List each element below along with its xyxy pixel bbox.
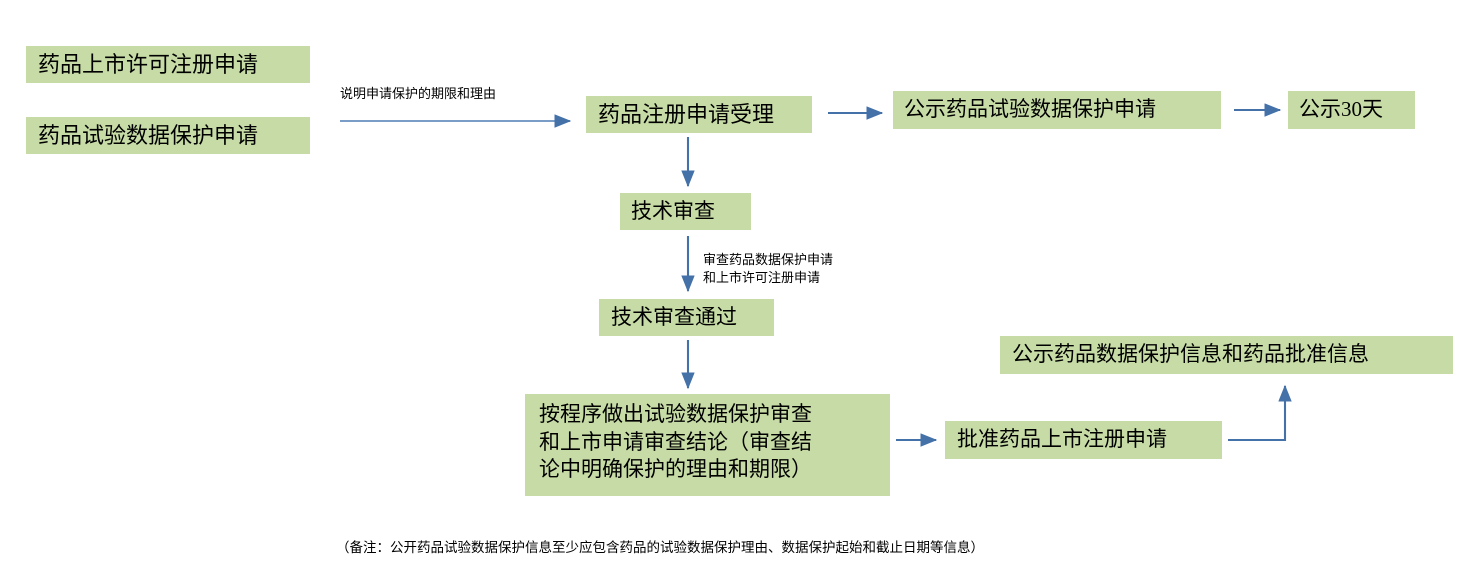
edge-label-review-both-applications: 审查药品数据保护申请 和上市许可注册申请 xyxy=(703,251,833,286)
footnote-note: （备注：公开药品试验数据保护信息至少应包含药品的试验数据保护理由、数据保护起始和… xyxy=(336,536,984,556)
edge-approve-to-publicize-info xyxy=(1228,386,1285,440)
node-publicize-protection-and-approval[interactable]: 公示药品数据保护信息和药品批准信息 xyxy=(1000,336,1453,374)
node-technical-review-passed[interactable]: 技术审查通过 xyxy=(599,299,774,336)
node-marketing-application[interactable]: 药品上市许可注册申请 xyxy=(26,46,310,83)
edge-label-explain-term-and-reason: 说明申请保护的期限和理由 xyxy=(340,85,496,103)
node-technical-review[interactable]: 技术审查 xyxy=(620,193,751,230)
flowchart-canvas: 药品上市许可注册申请 药品试验数据保护申请 药品注册申请受理 公示药品试验数据保… xyxy=(0,0,1466,582)
node-publicize-30-days[interactable]: 公示30天 xyxy=(1288,91,1415,129)
node-approve-marketing-registration[interactable]: 批准药品上市注册申请 xyxy=(945,421,1222,459)
node-review-conclusion[interactable]: 按程序做出试验数据保护审查 和上市申请审查结论（审查结 论中明确保护的理由和期限… xyxy=(525,394,890,496)
node-data-protection-application[interactable]: 药品试验数据保护申请 xyxy=(26,117,310,154)
node-registration-accepted[interactable]: 药品注册申请受理 xyxy=(586,96,812,133)
node-publicize-data-protection-application[interactable]: 公示药品试验数据保护申请 xyxy=(893,91,1221,129)
